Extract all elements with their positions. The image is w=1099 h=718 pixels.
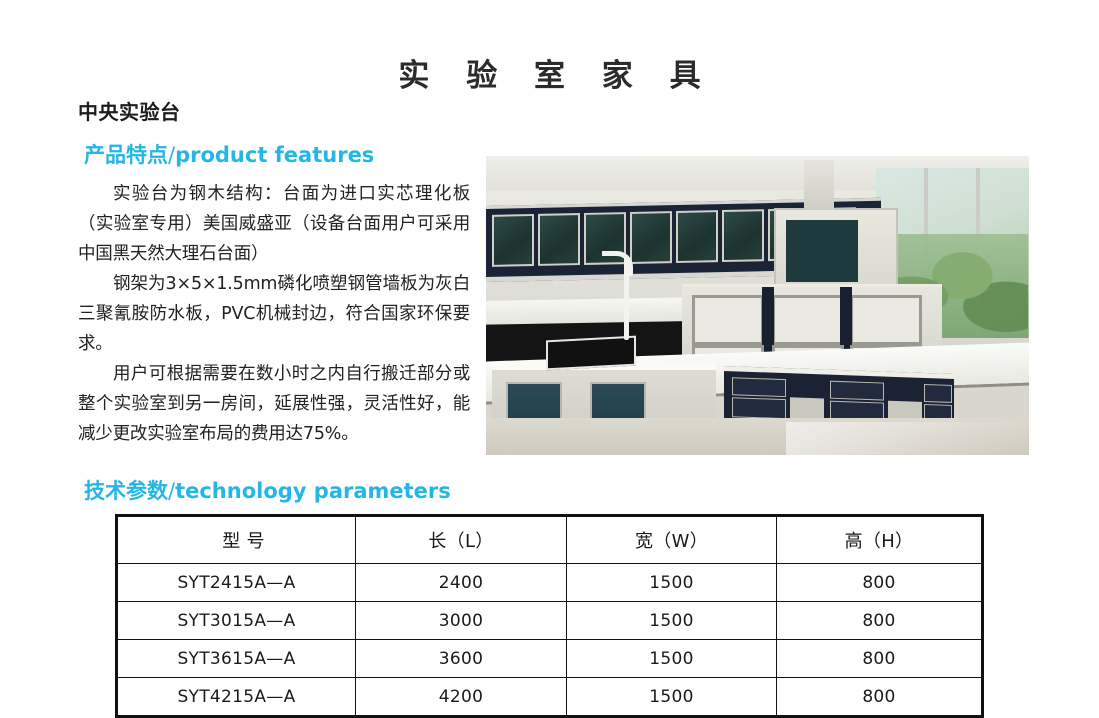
cell-width: 1500 — [567, 564, 777, 602]
features-heading-en: product features — [175, 143, 374, 167]
feature-paragraph-3: 用户可根据需要在数小时之内自行搬迁部分或整个实验室到另一房间，延展性强，灵活性好… — [78, 359, 470, 449]
cell-model: SYT3015A—A — [117, 602, 356, 640]
cell-model: SYT2415A—A — [117, 564, 356, 602]
table-header-length: 长（L） — [356, 516, 567, 564]
cell-model: SYT3615A—A — [117, 640, 356, 678]
table-header-row: 型 号 长（L） 宽（W） 高（H） — [117, 516, 983, 564]
cell-height: 800 — [777, 602, 983, 640]
laboratory-photo-content — [486, 156, 1029, 455]
cell-height: 800 — [777, 678, 983, 717]
features-heading-cn: 产品特点 — [84, 143, 168, 167]
tech-heading-en: technology parameters — [175, 479, 451, 503]
cell-width: 1500 — [567, 678, 777, 717]
feature-paragraph-2: 钢架为3×5×1.5mm磷化喷塑钢管墙板为灰白三聚氰胺防水板，PVC机械封边，符… — [78, 269, 470, 359]
laboratory-photo — [486, 156, 1029, 455]
table-row: SYT2415A—A 2400 1500 800 — [117, 564, 983, 602]
tech-heading-cn: 技术参数 — [84, 479, 168, 503]
photo-sink — [546, 336, 636, 371]
product-features-heading: 产品特点/product features — [84, 139, 470, 169]
table-header-height: 高（H） — [777, 516, 983, 564]
page-title: 实 验 室 家 具 — [0, 50, 1099, 95]
table-row: SYT3015A—A 3000 1500 800 — [117, 602, 983, 640]
cell-length: 3000 — [356, 602, 567, 640]
cell-width: 1500 — [567, 602, 777, 640]
specification-table: 型 号 长（L） 宽（W） 高（H） SYT2415A—A 2400 1500 … — [115, 514, 984, 718]
photo-fume-hood-panel — [786, 220, 858, 282]
cell-width: 1500 — [567, 640, 777, 678]
technology-parameters-heading: 技术参数/technology parameters — [84, 475, 451, 505]
feature-paragraph-1: 实验台为钢木结构：台面为进口实芯理化板（实验室专用）美国威盛亚（设备台面用户可采… — [78, 179, 470, 269]
table-row: SYT4215A—A 4200 1500 800 — [117, 678, 983, 717]
left-content-column: 中央实验台 产品特点/product features 实验台为钢木结构：台面为… — [78, 96, 470, 449]
photo-floor-reflection — [786, 422, 1026, 455]
photo-duct — [804, 160, 834, 210]
product-features-body: 实验台为钢木结构：台面为进口实芯理化板（实验室专用）美国威盛亚（设备台面用户可采… — [78, 179, 470, 449]
table-header-width: 宽（W） — [567, 516, 777, 564]
product-name-heading: 中央实验台 — [78, 96, 470, 125]
table-header-model: 型 号 — [117, 516, 356, 564]
cell-height: 800 — [777, 640, 983, 678]
cell-length: 4200 — [356, 678, 567, 717]
cell-model: SYT4215A—A — [117, 678, 356, 717]
cell-height: 800 — [777, 564, 983, 602]
table-row: SYT3615A—A 3600 1500 800 — [117, 640, 983, 678]
photo-faucet — [624, 256, 629, 340]
cell-length: 3600 — [356, 640, 567, 678]
cell-length: 2400 — [356, 564, 567, 602]
